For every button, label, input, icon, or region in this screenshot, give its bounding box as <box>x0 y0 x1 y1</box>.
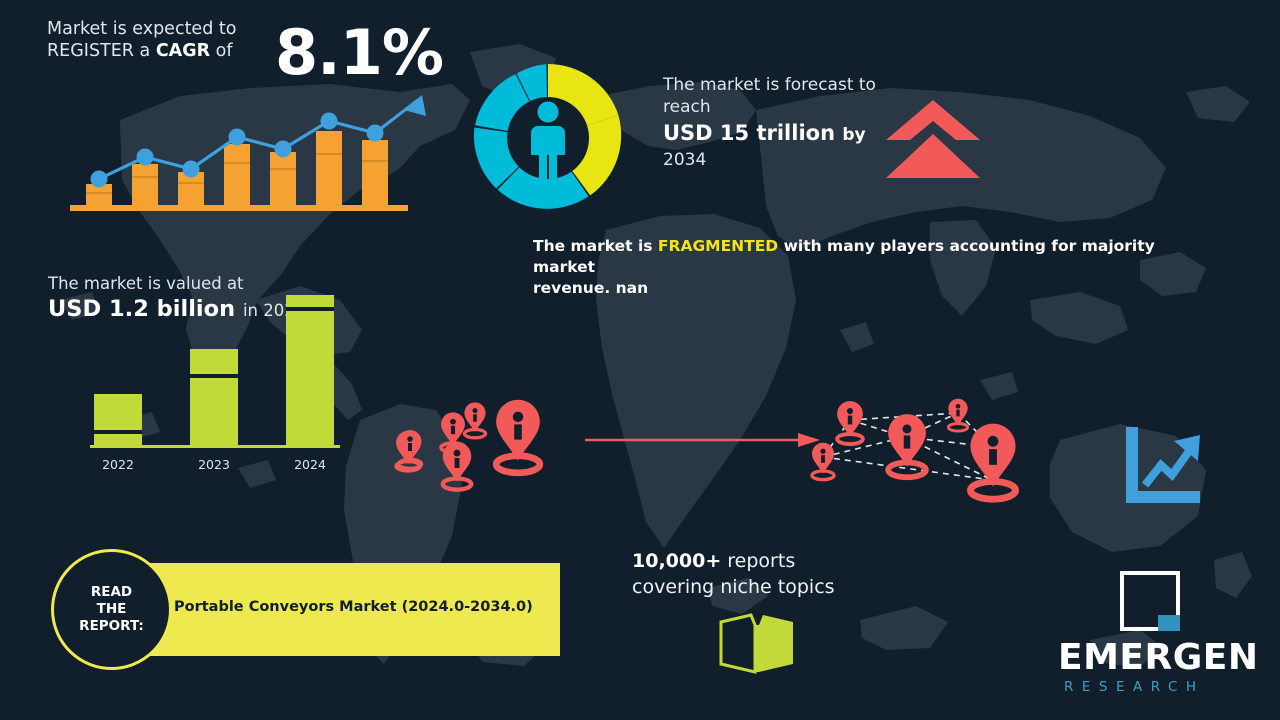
bar-divider <box>190 374 238 378</box>
read-the-report-button[interactable]: READ THE REPORT: <box>51 549 172 670</box>
fragmentation-pre: The market is <box>533 237 658 255</box>
map-pin-clusters <box>380 385 1020 505</box>
cagr-value: 8.1% <box>275 22 443 84</box>
market-share-donut <box>468 58 628 218</box>
reports-count: 10,000+ <box>632 550 721 572</box>
cta-line-1: READ <box>91 584 132 600</box>
bar-divider <box>94 430 142 434</box>
valuation-label: The market is valued at <box>48 273 305 295</box>
valuation-bar <box>190 349 238 447</box>
reports-line-2: covering niche topics <box>632 574 835 600</box>
valuation-axis-label: 2023 <box>184 457 244 472</box>
forecast-value: USD 15 trillion by <box>663 120 893 149</box>
trend-line-overlay <box>70 88 410 218</box>
logo-subtitle: RESEARCH <box>1064 679 1205 695</box>
forecast-block: The market is forecast to reach USD 15 t… <box>663 74 893 171</box>
cagr-keyword: CAGR <box>156 41 210 61</box>
reports-line-1-rest: reports <box>721 550 795 572</box>
valuation-bar <box>286 295 334 447</box>
square-outline-icon <box>1120 571 1180 631</box>
market-valuation-chart: 2022 2023 2024 <box>80 295 350 475</box>
report-banner[interactable]: Portable Conveyors Market (2024.0-2034.0… <box>105 563 560 656</box>
fragmentation-line-2: revenue. nan <box>533 278 1205 299</box>
line-chart-up-icon <box>1122 427 1204 507</box>
chart-baseline <box>90 445 340 448</box>
fragmentation-line-1: The market is FRAGMENTED with many playe… <box>533 236 1205 278</box>
cagr-line-2-pre: REGISTER a <box>47 41 156 61</box>
infographic-canvas: Market is expected to REGISTER a CAGR of… <box>0 0 1280 720</box>
cagr-line-2: REGISTER a CAGR of <box>47 40 236 62</box>
cagr-line-1: Market is expected to <box>47 18 236 40</box>
fragmented-players-cluster <box>396 400 540 490</box>
valuation-axis-label: 2022 <box>88 457 148 472</box>
bar-divider <box>286 307 334 311</box>
right-arrow-icon <box>585 433 820 447</box>
forecast-amount: USD 15 trillion <box>663 121 835 145</box>
reports-block: 10,000+ reports covering niche topics <box>632 548 835 600</box>
consolidated-network-cluster <box>812 399 1016 499</box>
valuation-bar <box>94 394 142 447</box>
valuation-axis-label: 2024 <box>280 457 340 472</box>
fragmentation-highlight: FRAGMENTED <box>658 237 778 255</box>
reports-line-1: 10,000+ reports <box>632 548 835 574</box>
cagr-block: Market is expected to REGISTER a CAGR of… <box>47 18 467 62</box>
cagr-line-2-post: of <box>210 41 232 61</box>
cta-line-3: REPORT: <box>79 618 144 634</box>
growth-trend-chart <box>70 88 410 218</box>
forecast-line-2: reach <box>663 96 893 118</box>
logo-wordmark: EMERGEN <box>1058 637 1259 678</box>
forecast-year: 2034 <box>663 149 893 171</box>
read-the-report-label: READ THE REPORT: <box>79 584 144 635</box>
forecast-by: by <box>842 125 865 145</box>
open-book-icon <box>718 612 796 674</box>
double-chevron-up-icon <box>886 100 980 178</box>
logo-accent <box>1158 615 1180 631</box>
report-banner-title: Portable Conveyors Market (2024.0-2034.0… <box>174 599 533 615</box>
fragmentation-block: The market is FRAGMENTED with many playe… <box>533 236 1205 299</box>
cta-line-2: THE <box>97 601 127 617</box>
forecast-line-1: The market is forecast to <box>663 74 893 96</box>
